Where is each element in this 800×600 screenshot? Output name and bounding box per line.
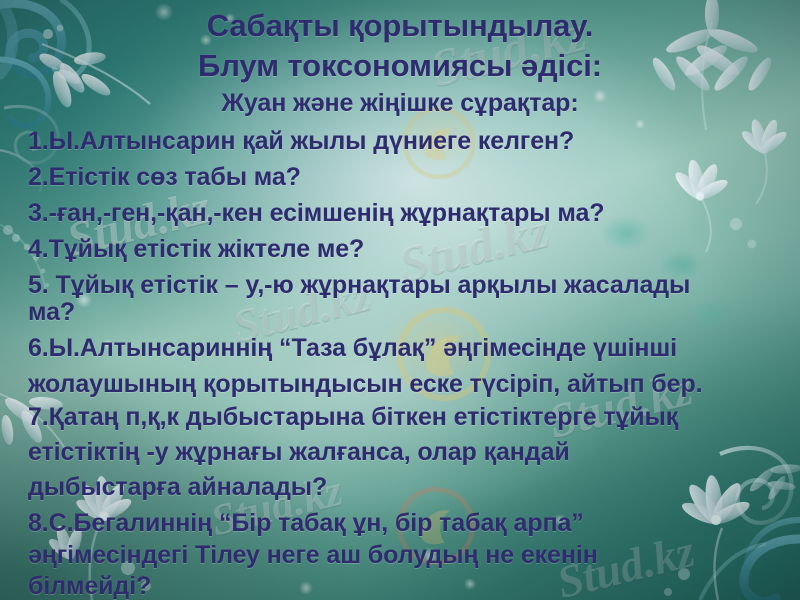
slide-title-line-1: Сабақты қорытындылау. [0,8,800,44]
question-line-5a: 5. Тұйық етістік – у,-ю жұрнақтары арқыл… [0,271,800,300]
slide-text-content: Сабақты қорытындылау. Блум токсономиясы … [0,0,800,600]
question-line-3: 3.-ған,-ген,-қан,-кен есімшенің жұрнақта… [0,199,800,228]
slide-title-line-2: Блум токсономиясы әдісі: [0,48,800,84]
presentation-slide: Stud.kz Stud.kz Stud.kz Stud.kz Stud.kz … [0,0,800,600]
question-line-8a: 8.С.Бегалиннің “Бір табақ ұн, бір табақ … [0,509,800,538]
slide-subheading: Жуан және жіңішке сұрақтар: [0,89,800,118]
question-line-6b: жолаушының қорытындысын еске түсіріп, ай… [0,370,800,399]
question-line-5b: ма? [0,298,800,327]
question-line-7c: дыбыстарға айналады? [0,473,800,502]
question-line-6a: 6.Ы.Алтынсариннің “Таза бұлақ” әңгімесін… [0,334,800,363]
question-line-7a: 7.Қатаң п,қ,к дыбыстарына біткен етістік… [0,403,800,432]
question-line-2: 2.Етістік сөз табы ма? [0,163,800,192]
question-line-4: 4.Тұйық етістік жіктеле ме? [0,235,800,264]
question-line-1: 1.Ы.Алтынсарин қай жылы дүниеге келген? [0,127,800,156]
question-line-8c: білмейді? [0,572,800,600]
question-line-8b: әңгімесіндегі Тілеу неге аш болудың не е… [0,541,800,570]
question-line-7b: етістіктің -у жұрнағы жалғанса, олар қан… [0,438,800,467]
